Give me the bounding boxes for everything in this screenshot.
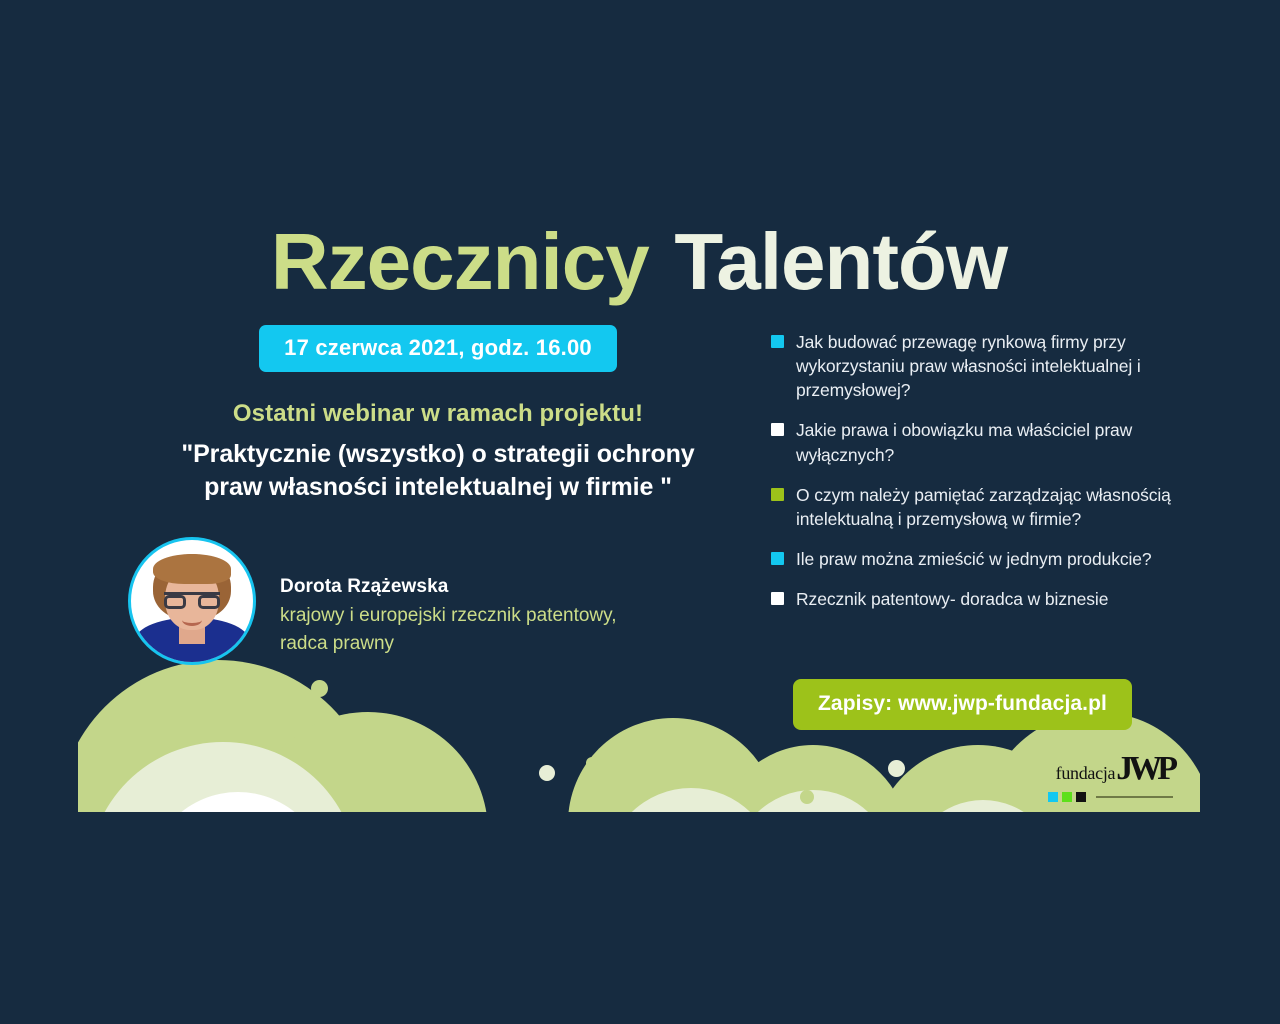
lead-headline: Ostatni webinar w ramach projektu! (108, 400, 768, 428)
bush-dot (586, 757, 598, 769)
bullet-marker (771, 488, 784, 501)
logo-word-fundacja: fundacja (1056, 764, 1116, 782)
avatar (128, 537, 256, 665)
title-part-two: Talentów (674, 217, 1007, 306)
date-badge: 17 czerwca 2021, godz. 16.00 (259, 325, 617, 372)
question-text: Jakie prawa i obowiązku ma właściciel pr… (796, 418, 1181, 466)
question-text: Rzecznik patentowy- doradca w biznesie (796, 587, 1108, 611)
logo-square-green (1062, 792, 1072, 802)
logo-rule (1033, 792, 1173, 802)
speaker-block: Dorota Rzążewska krajowy i europejski rz… (128, 537, 617, 665)
bullet-marker (771, 552, 784, 565)
question-text: Ile praw można zmieścić w jednym produkc… (796, 547, 1152, 571)
question-text: O czym należy pamiętać zarządzając własn… (796, 483, 1181, 531)
speaker-text: Dorota Rzążewska krajowy i europejski rz… (280, 537, 617, 657)
title-part-one: Rzecznicy (271, 217, 649, 306)
left-column: 17 czerwca 2021, godz. 16.00 Ostatni web… (108, 325, 768, 505)
subtitle-line: "Praktycznie (wszystko) o strategii ochr… (108, 438, 768, 471)
bush-dot (539, 765, 555, 781)
bush-dot (311, 680, 328, 697)
bullet-marker (771, 423, 784, 436)
logo-square-cyan (1048, 792, 1058, 802)
subtitle-block: "Praktycznie (wszystko) o strategii ochr… (108, 438, 768, 505)
poster-canvas: Rzecznicy Talentów 17 czerwca 2021, godz… (0, 0, 1280, 1024)
bush-dot (888, 760, 905, 777)
glasses-icon (164, 592, 220, 607)
bullet-marker (771, 592, 784, 605)
registration-link-button[interactable]: Zapisy: www.jwp-fundacja.pl (793, 679, 1132, 730)
bullet-marker (771, 335, 784, 348)
logo-word-jwp: JWP (1116, 752, 1173, 786)
avatar-smile (182, 614, 202, 626)
page-title: Rzecznicy Talentów (78, 222, 1200, 302)
questions-list: Jak budować przewagę rynkową firmy przy … (771, 330, 1181, 627)
logo-square-black (1076, 792, 1086, 802)
bush-dot (800, 790, 814, 804)
list-item: Rzecznik patentowy- doradca w biznesie (771, 587, 1181, 611)
list-item: O czym należy pamiętać zarządzając własn… (771, 483, 1181, 531)
list-item: Jakie prawa i obowiązku ma właściciel pr… (771, 418, 1181, 466)
logo-divider (1096, 796, 1173, 798)
speaker-name: Dorota Rzążewska (280, 576, 617, 598)
list-item: Jak budować przewagę rynkową firmy przy … (771, 330, 1181, 402)
speaker-role-line: radca prawny (280, 630, 617, 658)
webinar-banner: Rzecznicy Talentów 17 czerwca 2021, godz… (78, 0, 1200, 812)
question-text: Jak budować przewagę rynkową firmy przy … (796, 330, 1181, 402)
speaker-role-line: krajowy i europejski rzecznik patentowy, (280, 602, 617, 630)
logo-wordmark: fundacja JWP (1033, 752, 1173, 786)
speaker-role: krajowy i europejski rzecznik patentowy,… (280, 602, 617, 657)
list-item: Ile praw można zmieścić w jednym produkc… (771, 547, 1181, 571)
title-space (653, 217, 674, 306)
avatar-fringe (153, 554, 231, 584)
subtitle-line: praw własności intelektualnej w firmie " (108, 471, 768, 504)
fundacja-jwp-logo: fundacja JWP (1033, 752, 1173, 802)
